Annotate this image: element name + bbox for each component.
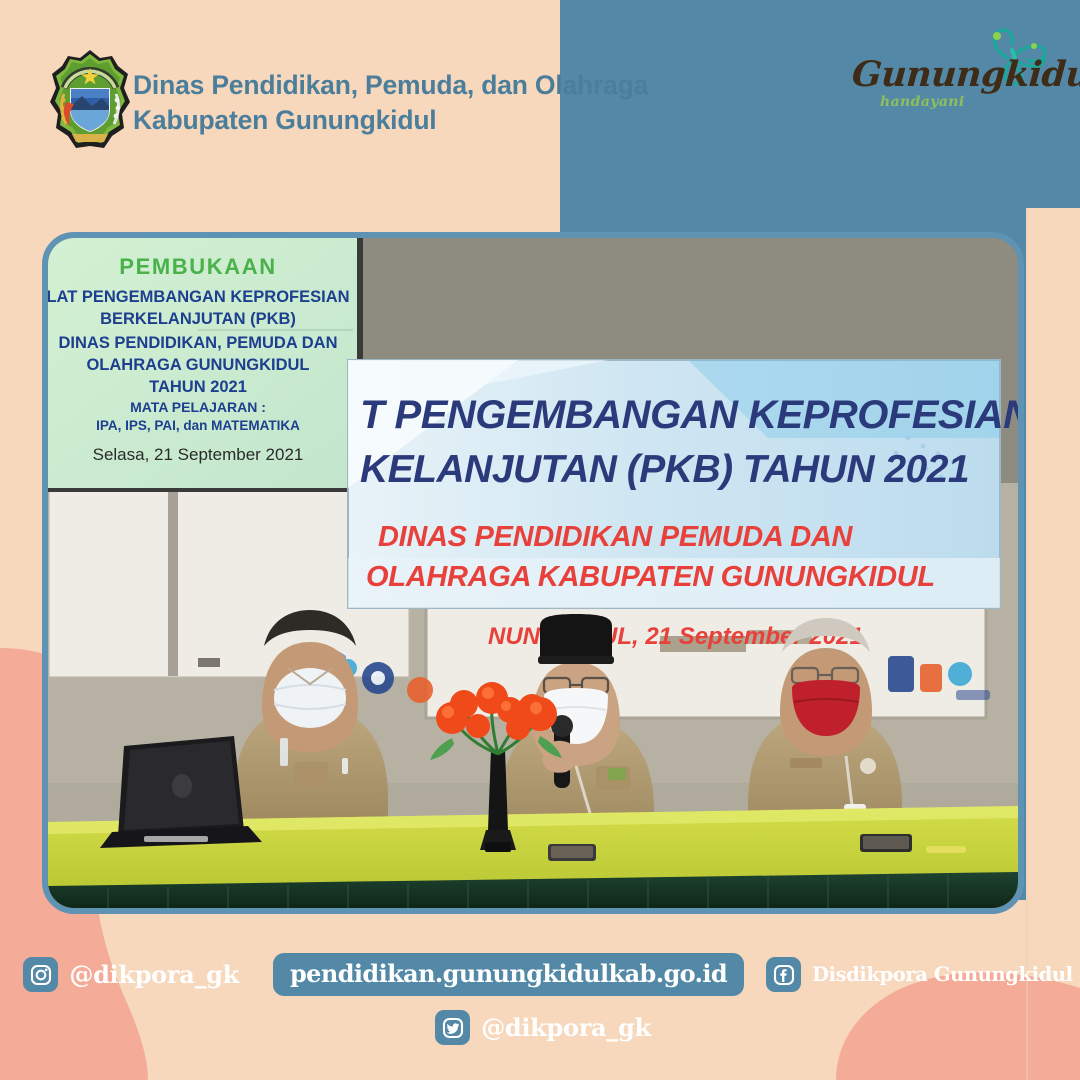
svg-text:T PENGEMBANGAN KEPROFESIAN: T PENGEMBANGAN KEPROFESIAN xyxy=(360,393,1018,437)
gk-tagline: handayani xyxy=(880,94,965,110)
page-title: Dinas Pendidikan, Pemuda, dan Olahraga K… xyxy=(133,68,733,138)
svg-text:TAHUN 2021: TAHUN 2021 xyxy=(149,378,247,396)
social-footer: @dikpora_gk pendidikan.gunungkidulkab.go… xyxy=(0,944,1080,1074)
svg-text:Selasa, 21 September 2021: Selasa, 21 September 2021 xyxy=(93,445,304,464)
svg-text:LAT PENGEMBANGAN KEPROFESIAN: LAT PENGEMBANGAN KEPROFESIAN xyxy=(48,288,350,306)
event-photo-card: PEMBUKAAN LAT PENGEMBANGAN KEPROFESIAN B… xyxy=(42,232,1024,914)
dept-title-line1: Dinas Pendidikan, Pemuda, dan Olahraga xyxy=(133,70,648,100)
instagram-icon[interactable] xyxy=(23,957,58,992)
svg-text:DINAS PENDIDIKAN PEMUDA DAN: DINAS PENDIDIKAN PEMUDA DAN xyxy=(378,521,854,553)
svg-text:KELANJUTAN (PKB) TAHUN 2021: KELANJUTAN (PKB) TAHUN 2021 xyxy=(360,448,969,491)
svg-text:MATA PELAJARAN :: MATA PELAJARAN : xyxy=(130,399,266,415)
dept-title-line2: Kabupaten Gunungkidul xyxy=(133,103,733,138)
footer-row-primary: @dikpora_gk pendidikan.gunungkidulkab.go… xyxy=(0,953,1080,996)
twitter-icon[interactable] xyxy=(435,1010,470,1045)
facebook-icon[interactable] xyxy=(766,957,801,992)
gk-wordmark: Gunungkidul xyxy=(851,54,1080,95)
svg-text:DINAS PENDIDIKAN, PEMUDA DAN: DINAS PENDIDIKAN, PEMUDA DAN xyxy=(59,334,338,352)
page-header: Dinas Pendidikan, Pemuda, dan Olahraga K… xyxy=(0,0,1080,200)
svg-text:OLAHRAGA KABUPATEN GUNUNGKIDUL: OLAHRAGA KABUPATEN GUNUNGKIDUL xyxy=(366,561,935,593)
svg-text:OLAHRAGA GUNUNGKIDUL: OLAHRAGA GUNUNGKIDUL xyxy=(86,356,309,374)
instagram-handle[interactable]: @dikpora_gk xyxy=(69,960,239,989)
website-url-badge[interactable]: pendidikan.gunungkidulkab.go.id xyxy=(273,953,744,996)
svg-text:PEMBUKAAN: PEMBUKAAN xyxy=(119,254,276,279)
gunungkidul-regency-crest xyxy=(48,48,132,160)
pembukaan-diklat-pkb-2021-photo: PEMBUKAAN LAT PENGEMBANGAN KEPROFESIAN B… xyxy=(48,238,1018,908)
gunungkidul-brand-logo: Gunungkidul handayani xyxy=(838,18,1058,126)
svg-text:IPA, IPS, PAI, dan MATEMATIKA: IPA, IPS, PAI, dan MATEMATIKA xyxy=(96,418,300,433)
twitter-handle[interactable]: @dikpora_gk xyxy=(481,1013,651,1042)
facebook-handle[interactable]: Disdikpora Gunungkidul xyxy=(812,963,1073,986)
svg-text:BERKELANJUTAN (PKB): BERKELANJUTAN (PKB) xyxy=(100,310,296,328)
footer-row-secondary: @dikpora_gk xyxy=(0,1010,1080,1045)
